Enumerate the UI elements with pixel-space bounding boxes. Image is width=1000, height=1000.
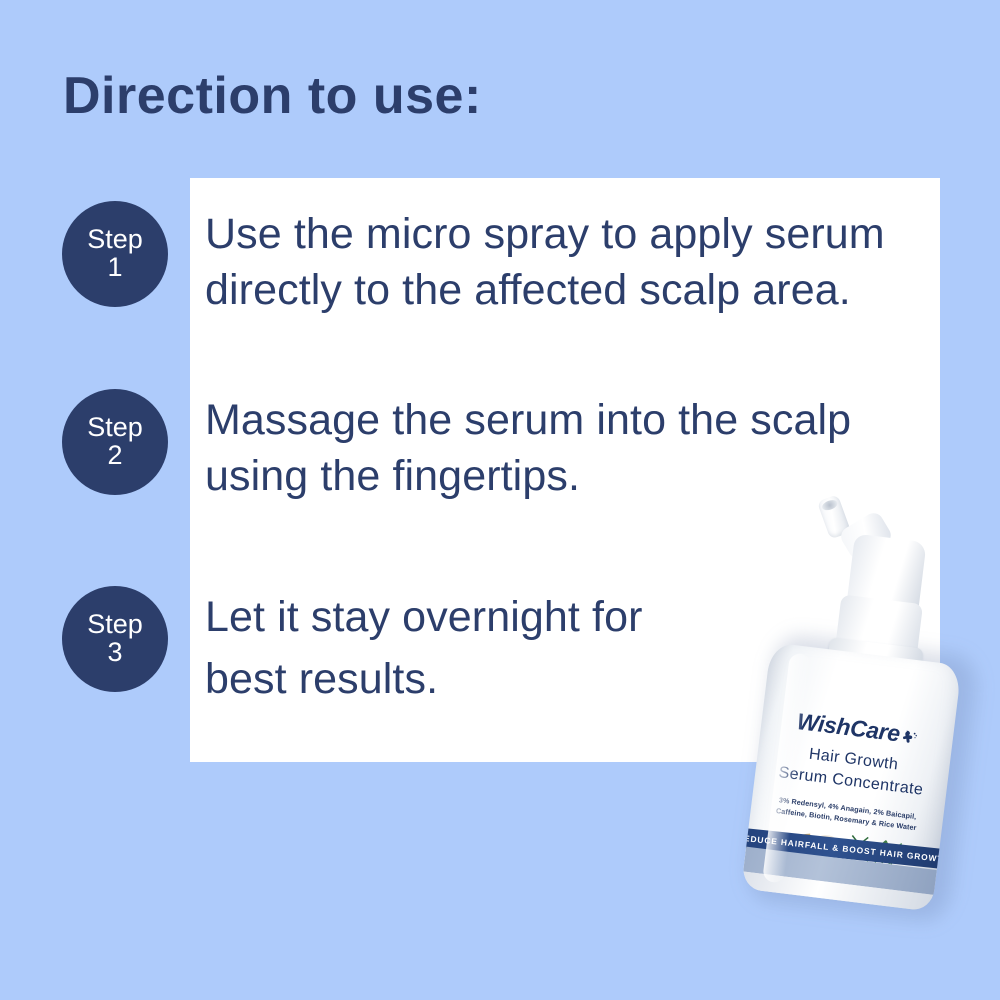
step-badge-word: Step: [87, 414, 143, 442]
step-badge-number: 2: [107, 442, 122, 470]
bottle-body: WishCare Hair Growth Serum Concentrate 3…: [741, 642, 962, 912]
step-badge-number: 3: [107, 639, 122, 667]
page-title: Direction to use:: [63, 68, 482, 125]
step-badge-2: Step 2: [62, 389, 168, 495]
step-badge-3: Step 3: [62, 586, 168, 692]
step-badge-number: 1: [107, 254, 122, 282]
step-badge-1: Step 1: [62, 201, 168, 307]
step-text-3: Let it stay overnight for best results.: [205, 586, 825, 711]
wishcare-logo-mark-icon: [900, 724, 919, 743]
step-badge-word: Step: [87, 226, 143, 254]
instruction-graphic: Direction to use: Step 1 Use the micro s…: [0, 0, 1000, 1000]
brand-text: WishCare: [796, 708, 902, 746]
nozzle-tip: [821, 498, 839, 512]
step-text-1: Use the micro spray to apply serum direc…: [205, 207, 965, 319]
step-badge-word: Step: [87, 611, 143, 639]
